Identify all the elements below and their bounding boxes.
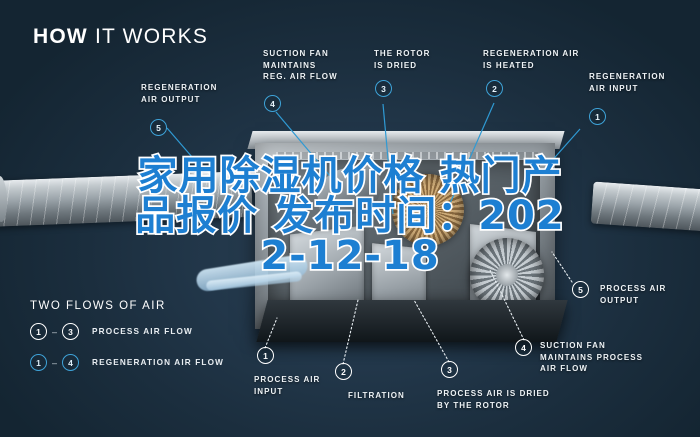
callout-marker-process-air-output[interactable]: 5 [572,281,589,298]
callout-label-process-air-output: PROCESS AIR OUTPUT [600,283,666,306]
legend-row-regeneration-air-flow: 1 – 4 REGENERATION AIR FLOW [30,354,224,371]
callout-marker-regeneration-air-heated[interactable]: 2 [486,80,503,97]
legend-row-process-air-flow: 1 – 3 PROCESS AIR FLOW [30,323,193,340]
callout-label-regeneration-air-input: REGENERATION AIR INPUT [589,71,665,94]
title-light-word: IT WORKS [95,25,208,48]
legend-label-process-air-flow: PROCESS AIR FLOW [92,327,193,336]
chinese-overlay-text: 家用除湿机价格 热门产 品报价 发布时间：202 2-12-18 [0,156,700,276]
legend-dash-blue: – [52,358,57,368]
callout-label-regeneration-air-heated: REGENERATION AIR IS HEATED [483,48,579,71]
callout-marker-regeneration-air-input[interactable]: 1 [589,108,606,125]
unit-base-plinth [256,300,567,342]
callout-label-process-air-input: PROCESS AIR INPUT [254,374,320,397]
callout-marker-suction-fan-reg[interactable]: 4 [264,95,281,112]
legend-label-regeneration-air-flow: REGENERATION AIR FLOW [92,358,224,367]
callout-label-suction-fan-process: SUCTION FAN MAINTAINS PROCESS AIR FLOW [540,340,643,375]
title-bold-word: HOW [33,25,88,48]
callout-marker-regeneration-air-output[interactable]: 5 [150,119,167,136]
callout-marker-filtration[interactable]: 2 [335,363,352,380]
legend-marker-to-4-blue: 4 [62,354,79,371]
overlay-line-1: 家用除湿机价格 热门产 [0,156,700,196]
callout-marker-rotor-is-dried[interactable]: 3 [375,80,392,97]
legend-marker-to-3: 3 [62,323,79,340]
overlay-line-3: 2-12-18 [0,236,700,276]
callout-label-suction-fan-reg: SUCTION FAN MAINTAINS REG. AIR FLOW [263,48,338,83]
callout-marker-process-air-dried[interactable]: 3 [441,361,458,378]
overlay-line-2: 品报价 发布时间：202 [0,196,700,236]
callout-label-regeneration-air-output: REGENERATION AIR OUTPUT [141,82,217,105]
callout-label-rotor-is-dried: THE ROTOR IS DRIED [374,48,430,71]
callout-marker-process-air-input[interactable]: 1 [257,347,274,364]
legend-title: TWO FLOWS OF AIR [30,300,166,312]
callout-label-process-air-dried: PROCESS AIR IS DRIED BY THE ROTOR [437,388,550,411]
callout-marker-suction-fan-process[interactable]: 4 [515,339,532,356]
page-title: HOW IT WORKS [33,25,208,49]
legend-marker-from-1: 1 [30,323,47,340]
infographic-canvas: HOW IT WORKS REGENERATION AIR OUTPUT 5 S… [0,0,700,437]
legend-dash: – [52,327,57,337]
callout-label-filtration: FILTRATION [348,390,405,402]
legend-marker-from-1-blue: 1 [30,354,47,371]
